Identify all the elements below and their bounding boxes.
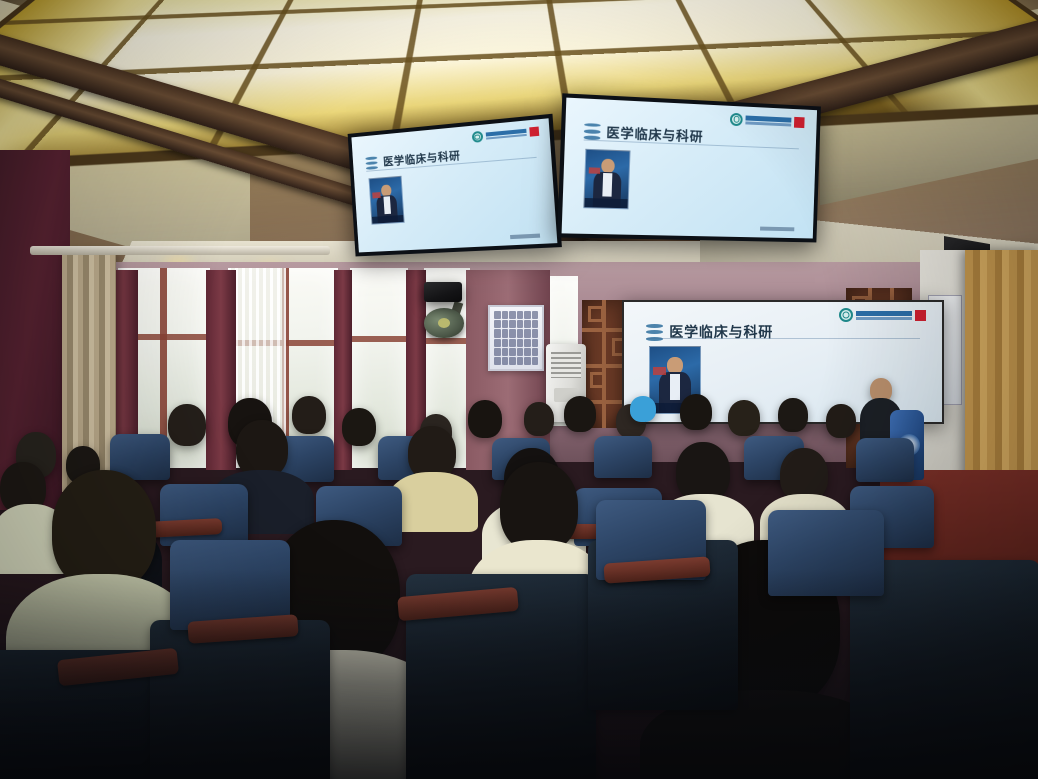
audience-head: [676, 442, 730, 502]
seat: [856, 438, 914, 482]
seat: [594, 436, 652, 478]
wall-mounted-tv-right[interactable]: 医学临床与科研: [557, 93, 821, 242]
logo-wordmark: [746, 115, 792, 126]
university-emblem: [730, 112, 805, 128]
quote-attribution: [760, 227, 794, 232]
logo-circle-icon: [472, 131, 484, 143]
logo-red-mark: [915, 310, 926, 321]
audience-head: [292, 396, 326, 434]
audience-head: [524, 402, 554, 436]
university-emblem: [472, 126, 540, 143]
wall-mounted-tv-left[interactable]: 医学临床与科研: [348, 114, 562, 257]
slide-right: 医学临床与科研: [562, 98, 817, 239]
seat: [160, 484, 248, 546]
slide-title: 医学临床与科研: [669, 322, 773, 342]
ceiling-speaker-left: [424, 282, 462, 302]
audience-head: [168, 404, 206, 446]
logo-red-mark: [794, 116, 805, 127]
stack-icon: [366, 156, 379, 170]
slide-quote: [658, 214, 796, 223]
lecture-hall-photo: 医学临床与科研: [0, 0, 1038, 779]
tv-right-display: 医学临床与科研: [562, 98, 817, 239]
logo-circle-icon: [730, 112, 743, 125]
speaker-photo: [584, 149, 631, 210]
slide-body-text: [735, 345, 919, 351]
stack-icon: [583, 123, 600, 140]
audience-head: [728, 400, 760, 436]
calligraphy-poster: [488, 305, 544, 371]
seat: [768, 510, 884, 596]
seat: [150, 620, 330, 779]
audience-head: [778, 398, 808, 432]
audience-head: [826, 404, 856, 438]
slide-left: 医学临床与科研: [351, 118, 557, 252]
audience-head: [468, 400, 502, 438]
ac-vent: [551, 352, 581, 378]
audience-head-blue-cap: [630, 396, 656, 422]
university-emblem: [839, 308, 926, 322]
slide-body-text: [420, 164, 537, 177]
speaker-photo: [369, 176, 405, 225]
audience-head: [680, 394, 712, 430]
quote-attribution: [510, 234, 540, 239]
logo-wordmark: [486, 129, 527, 140]
audience-head: [342, 408, 376, 446]
audience-head: [52, 470, 156, 590]
curtain-rod: [30, 246, 330, 255]
tv-left-display: 医学临床与科研: [351, 118, 557, 252]
wall-fan-left: [424, 302, 468, 342]
audience-head: [500, 462, 578, 552]
slide-body-text: [656, 150, 799, 160]
logo-red-mark: [529, 127, 539, 137]
logo-wordmark: [856, 311, 912, 320]
slide-divider: [646, 338, 920, 339]
logo-circle-icon: [839, 308, 853, 322]
slide-title-row: 医学临床与科研: [646, 322, 773, 342]
audience-head: [564, 396, 596, 432]
slide-quote: [427, 224, 541, 235]
